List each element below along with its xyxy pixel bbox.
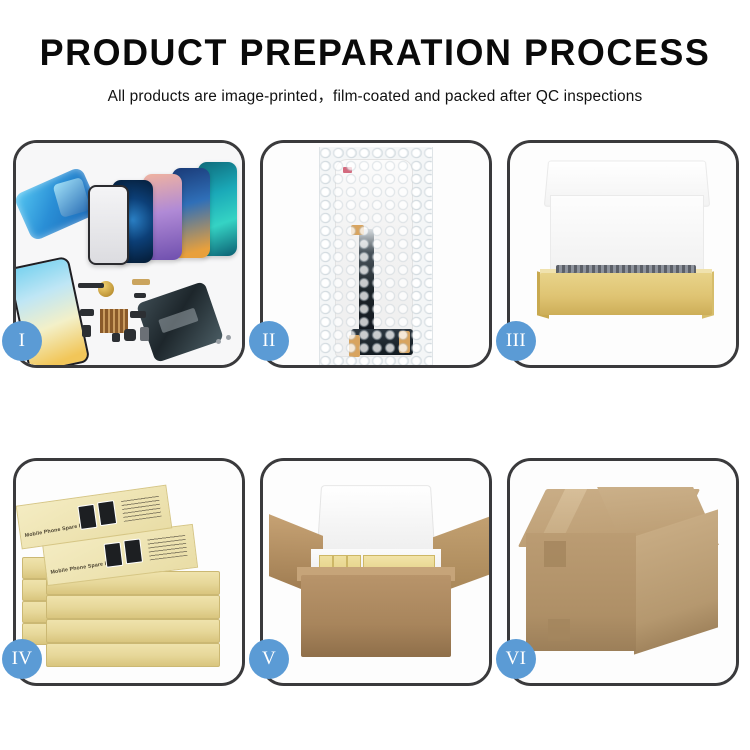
- foam-lid: [317, 485, 435, 551]
- box-artwork-thumb: [77, 504, 97, 530]
- spare-part-camera: [124, 329, 136, 341]
- retail-box: [46, 619, 220, 643]
- display-flex-cable: [359, 229, 374, 335]
- step-badge-1: I: [2, 321, 42, 361]
- adhesive-tape-icon: [349, 335, 360, 357]
- process-step-panel-1[interactable]: I: [13, 140, 245, 368]
- step-5-photo: [263, 461, 489, 683]
- step-2-photo: [263, 143, 489, 365]
- step-badge-2: II: [249, 321, 289, 361]
- box-spec-lines: [147, 534, 187, 560]
- step-badge-6: VI: [496, 639, 536, 679]
- carton-front-face: [526, 533, 636, 651]
- phone-display-blank: [88, 185, 129, 265]
- box-artwork-thumb: [97, 500, 117, 526]
- qc-sticker-icon: [343, 167, 352, 173]
- page-subtitle: All products are image-printed，film-coat…: [0, 84, 750, 106]
- step-3-photo: [510, 143, 736, 365]
- box-artwork-thumb: [104, 542, 124, 568]
- adhesive-tape-icon: [351, 225, 364, 235]
- adhesive-tape-icon: [399, 331, 410, 353]
- carton-tab: [548, 619, 570, 641]
- step-4-photo: Mobile Phone Spare Parts Mobile Phone Sp…: [16, 461, 242, 683]
- spare-part-bracket: [80, 309, 94, 316]
- process-step-panel-2[interactable]: II: [260, 140, 492, 368]
- spare-part-strip: [78, 283, 104, 288]
- spare-part-flex: [134, 293, 146, 298]
- step-badge-3: III: [496, 321, 536, 361]
- spare-part-speaker: [140, 327, 149, 341]
- kraft-tray-front: [540, 273, 712, 315]
- process-step-panel-5[interactable]: V: [260, 458, 492, 686]
- spare-part-connector: [132, 279, 150, 285]
- step-badge-4: IV: [2, 639, 42, 679]
- step-1-photo: [16, 143, 242, 365]
- carton-body: [301, 575, 451, 657]
- step-6-photo: [510, 461, 736, 683]
- retail-box: [46, 643, 220, 667]
- spare-part-button: [112, 333, 120, 342]
- page-title: PRODUCT PREPARATION PROCESS: [11, 34, 739, 73]
- screw-icon: [226, 335, 231, 340]
- header: PRODUCT PREPARATION PROCESS All products…: [0, 0, 750, 106]
- carton-tab: [544, 541, 566, 567]
- screw-icon: [216, 339, 221, 344]
- box-artwork-thumb: [123, 538, 143, 564]
- retail-box: [46, 595, 220, 619]
- spare-part-sim-tray: [82, 325, 91, 337]
- step-badge-5: V: [249, 639, 289, 679]
- process-step-panel-4[interactable]: Mobile Phone Spare Parts Mobile Phone Sp…: [13, 458, 245, 686]
- process-step-panel-6[interactable]: VI: [507, 458, 739, 686]
- spare-part-cable: [130, 311, 146, 318]
- box-spec-lines: [121, 495, 162, 522]
- process-step-panel-3[interactable]: III: [507, 140, 739, 368]
- process-step-grid: I II III: [0, 140, 750, 688]
- wrapped-phone-screen: [335, 159, 413, 357]
